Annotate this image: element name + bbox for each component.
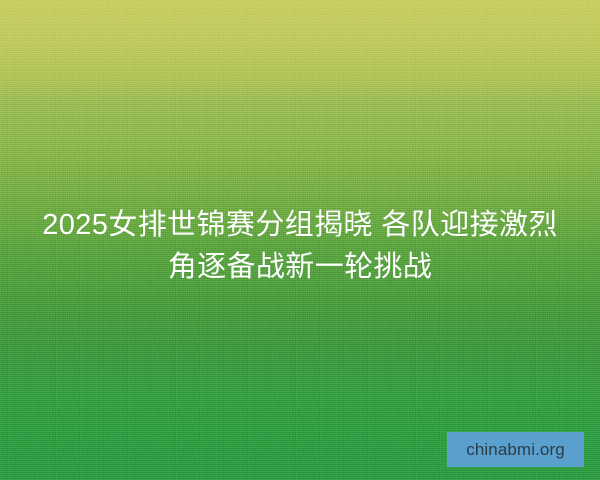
- headline-text: 2025女排世锦赛分组揭晓 各队迎接激烈 角逐备战新一轮挑战: [0, 204, 600, 288]
- watermark-label: chinabmi.org: [466, 441, 565, 458]
- watermark-badge[interactable]: chinabmi.org: [447, 432, 584, 467]
- cover-image-canvas: 2025女排世锦赛分组揭晓 各队迎接激烈 角逐备战新一轮挑战 chinabmi.…: [0, 0, 600, 480]
